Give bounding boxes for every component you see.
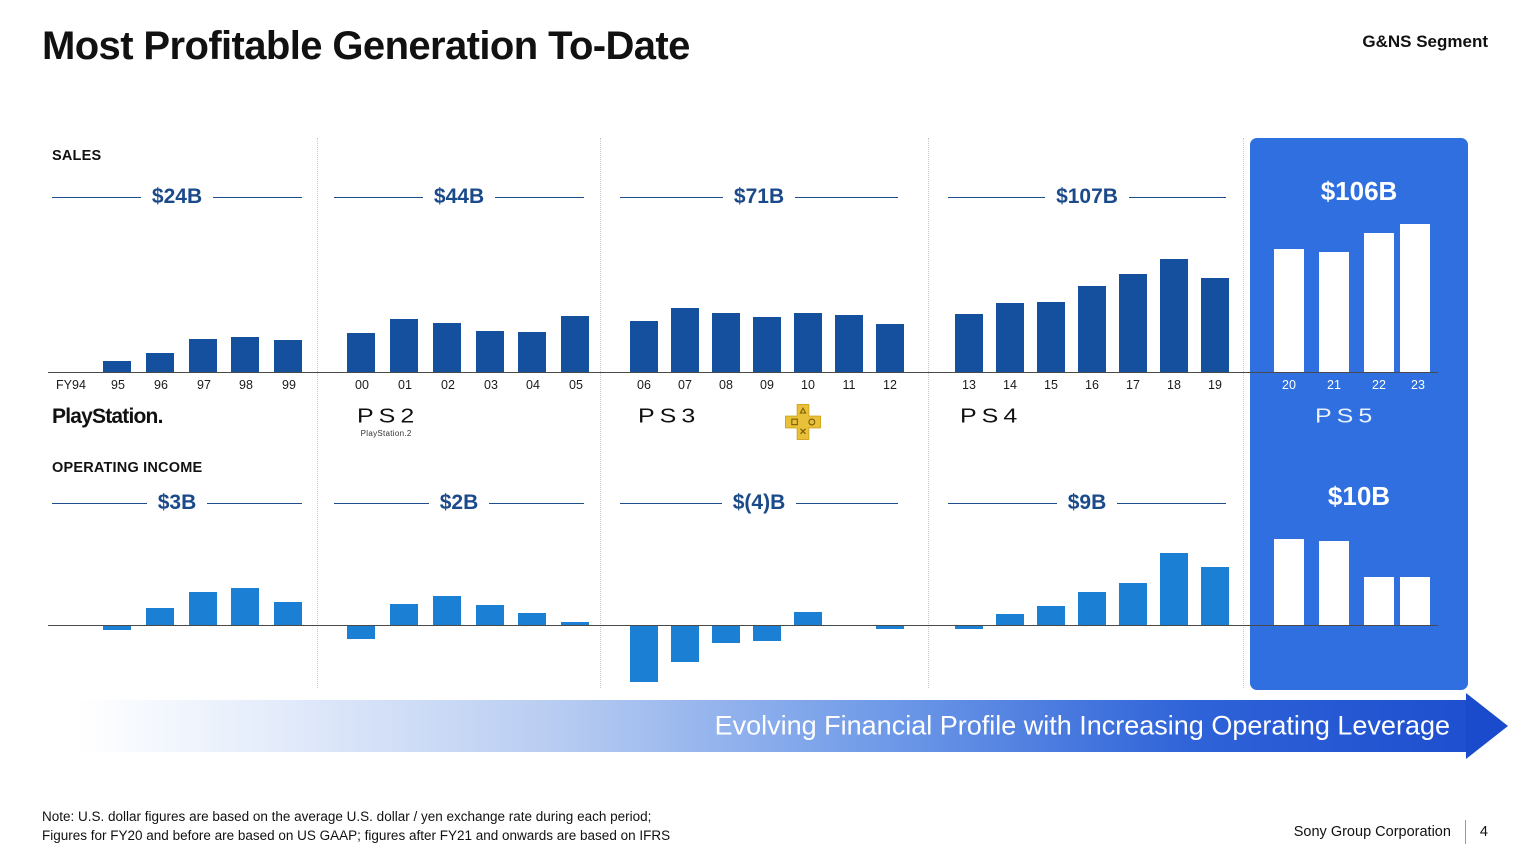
oi-bar-12: [876, 626, 904, 629]
sales-bar-21: [1319, 252, 1349, 372]
year-label-00: 00: [341, 378, 383, 392]
oi-total-ps2: $2B: [334, 492, 584, 514]
oi-amount-ps1: $3B: [147, 491, 208, 515]
rule-left: [334, 197, 423, 198]
year-label-16: 16: [1071, 378, 1113, 392]
sales-section-label: SALES: [52, 148, 101, 164]
oi-bar-95: [103, 626, 131, 630]
oi-bar-98: [231, 588, 259, 625]
operating-income-section-label: OPERATING INCOME: [52, 460, 202, 476]
year-label-19: 19: [1194, 378, 1236, 392]
sales-bar-99: [274, 340, 302, 372]
rule-right: [796, 503, 898, 504]
oi-bar-16: [1078, 592, 1106, 625]
oi-total-ps3: $(4)B: [620, 492, 898, 514]
sales-bar-03: [476, 331, 504, 372]
oi-bar-06: [630, 626, 658, 682]
page-title: Most Profitable Generation To-Date: [42, 24, 690, 69]
footnote-line-2: Figures for FY20 and before are based on…: [42, 826, 670, 846]
sales-bar-08: [712, 313, 740, 372]
year-label-96: 96: [140, 378, 182, 392]
oi-bar-10: [794, 612, 822, 625]
year-label-18: 18: [1153, 378, 1195, 392]
sales-bars: [0, 222, 1536, 372]
footnote: Note: U.S. dollar figures are based on t…: [42, 807, 670, 846]
sales-bar-98: [231, 337, 259, 372]
rule-right: [1129, 197, 1226, 198]
oi-amount-ps5: $10B: [1317, 481, 1401, 512]
sales-bar-05: [561, 316, 589, 372]
rule-left: [620, 197, 723, 198]
sales-bar-19: [1201, 278, 1229, 372]
sales-bar-20: [1274, 249, 1304, 372]
rule-right: [495, 197, 584, 198]
sales-bar-12: [876, 324, 904, 372]
ps2-logo-text: PS2: [357, 405, 419, 429]
playstation-logo-text: PlayStation: [52, 405, 158, 428]
oi-bar-02: [433, 596, 461, 625]
sales-bar-06: [630, 321, 658, 372]
year-label-23: 23: [1397, 378, 1439, 392]
sales-bar-11: [835, 315, 863, 372]
rule-left: [52, 197, 141, 198]
oi-total-ps1: $3B: [52, 492, 302, 514]
sales-bar-00: [347, 333, 375, 372]
rule-right: [489, 503, 584, 504]
year-label-20: 20: [1268, 378, 1310, 392]
sales-total-ps2: $44B: [334, 186, 584, 208]
operating-income-bars: [0, 525, 1536, 715]
sales-total-ps1: $24B: [52, 186, 302, 208]
oi-bar-19: [1201, 567, 1229, 625]
oi-bar-15: [1037, 606, 1065, 625]
footer-divider: [1465, 820, 1466, 844]
page-number: 4: [1480, 824, 1488, 840]
year-label-05: 05: [555, 378, 597, 392]
sales-total-ps3: $71B: [620, 186, 898, 208]
year-label-14: 14: [989, 378, 1031, 392]
ps3-logo: PS3: [638, 402, 700, 431]
playstation-plus-icon: [783, 402, 823, 442]
footnote-line-1: Note: U.S. dollar figures are based on t…: [42, 807, 670, 827]
banner-text: Evolving Financial Profile with Increasi…: [715, 711, 1450, 742]
year-label-12: 12: [869, 378, 911, 392]
sales-total-ps4: $107B: [948, 186, 1226, 208]
oi-bar-00: [347, 626, 375, 639]
leverage-banner: Evolving Financial Profile with Increasi…: [78, 700, 1508, 752]
year-label-21: 21: [1313, 378, 1355, 392]
chart-area: SALES $24B $44B $71B $107B $106B: [0, 130, 1536, 700]
oi-amount-ps3: $(4)B: [722, 491, 797, 515]
year-label-98: 98: [225, 378, 267, 392]
oi-bar-18: [1160, 553, 1188, 625]
year-label-03: 03: [470, 378, 512, 392]
rule-left: [948, 197, 1045, 198]
ps3-logo-text: PS3: [638, 405, 700, 429]
ps2-logo: PS2 PlayStation.2: [357, 402, 419, 438]
year-label-08: 08: [705, 378, 747, 392]
footer-right: Sony Group Corporation 4: [1294, 820, 1488, 844]
sales-total-ps5: $106B: [1250, 180, 1468, 202]
oi-bar-01: [390, 604, 418, 625]
rule-left: [948, 503, 1057, 504]
oi-bar-09: [753, 626, 781, 641]
ps4-logo-text: PS4: [960, 405, 1022, 429]
sales-bar-02: [433, 323, 461, 372]
playstation-logo: PlayStation.: [52, 405, 163, 429]
year-label-FY94: FY94: [50, 378, 92, 392]
oi-bar-08: [712, 626, 740, 643]
slide-root: Most Profitable Generation To-Date G&NS …: [0, 0, 1536, 864]
sales-bar-09: [753, 317, 781, 372]
year-label-09: 09: [746, 378, 788, 392]
year-label-06: 06: [623, 378, 665, 392]
sales-bar-96: [146, 353, 174, 372]
oi-total-ps5: $10B: [1250, 485, 1468, 507]
sales-amount-ps2: $44B: [423, 185, 495, 209]
sales-bar-18: [1160, 259, 1188, 372]
sales-bar-16: [1078, 286, 1106, 372]
sales-bar-17: [1119, 274, 1147, 372]
sales-axis: [48, 372, 1438, 373]
banner-arrowhead-icon: [1466, 693, 1508, 759]
sales-amount-ps5: $106B: [1310, 176, 1409, 207]
oi-bar-97: [189, 592, 217, 625]
sales-amount-ps1: $24B: [141, 185, 213, 209]
oi-amount-ps2: $2B: [429, 491, 490, 515]
year-label-15: 15: [1030, 378, 1072, 392]
year-label-07: 07: [664, 378, 706, 392]
year-label-01: 01: [384, 378, 426, 392]
rule-left: [620, 503, 722, 504]
oi-bar-21: [1319, 541, 1349, 625]
oi-bar-23: [1400, 577, 1430, 625]
sales-bar-95: [103, 361, 131, 372]
oi-bar-22: [1364, 577, 1394, 625]
sales-bar-04: [518, 332, 546, 372]
sales-bar-23: [1400, 224, 1430, 372]
rule-left: [52, 503, 147, 504]
oi-bar-07: [671, 626, 699, 662]
oi-bar-96: [146, 608, 174, 625]
sales-bar-15: [1037, 302, 1065, 372]
sales-bar-01: [390, 319, 418, 372]
sales-bar-22: [1364, 233, 1394, 372]
ps5-logo: PS5: [1315, 402, 1377, 431]
oi-bar-17: [1119, 583, 1147, 625]
oi-amount-ps4: $9B: [1057, 491, 1118, 515]
rule-right: [213, 197, 302, 198]
oi-bar-99: [274, 602, 302, 625]
year-label-13: 13: [948, 378, 990, 392]
sales-bar-07: [671, 308, 699, 372]
segment-label: G&NS Segment: [1362, 32, 1488, 52]
year-label-10: 10: [787, 378, 829, 392]
oi-bar-14: [996, 614, 1024, 625]
logo-dot: .: [158, 405, 163, 428]
oi-bar-04: [518, 613, 546, 625]
year-label-99: 99: [268, 378, 310, 392]
sales-amount-ps4: $107B: [1045, 185, 1129, 209]
year-label-11: 11: [828, 378, 870, 392]
sales-amount-ps3: $71B: [723, 185, 795, 209]
ps2-logo-subtext: PlayStation.2: [353, 429, 419, 438]
oi-bar-20: [1274, 539, 1304, 625]
sales-bar-10: [794, 313, 822, 372]
sales-bar-97: [189, 339, 217, 372]
year-label-97: 97: [183, 378, 225, 392]
year-label-22: 22: [1358, 378, 1400, 392]
company-name: Sony Group Corporation: [1294, 824, 1451, 840]
year-label-95: 95: [97, 378, 139, 392]
ps5-logo-text: PS5: [1315, 405, 1377, 429]
rule-right: [207, 503, 302, 504]
rule-right: [795, 197, 898, 198]
year-label-04: 04: [512, 378, 554, 392]
rule-right: [1117, 503, 1226, 504]
oi-bar-03: [476, 605, 504, 625]
sales-bar-14: [996, 303, 1024, 372]
year-label-17: 17: [1112, 378, 1154, 392]
sales-bar-13: [955, 314, 983, 372]
ps4-logo: PS4: [960, 402, 1022, 431]
oi-total-ps4: $9B: [948, 492, 1226, 514]
rule-left: [334, 503, 429, 504]
year-label-02: 02: [427, 378, 469, 392]
oi-bar-13: [955, 626, 983, 629]
